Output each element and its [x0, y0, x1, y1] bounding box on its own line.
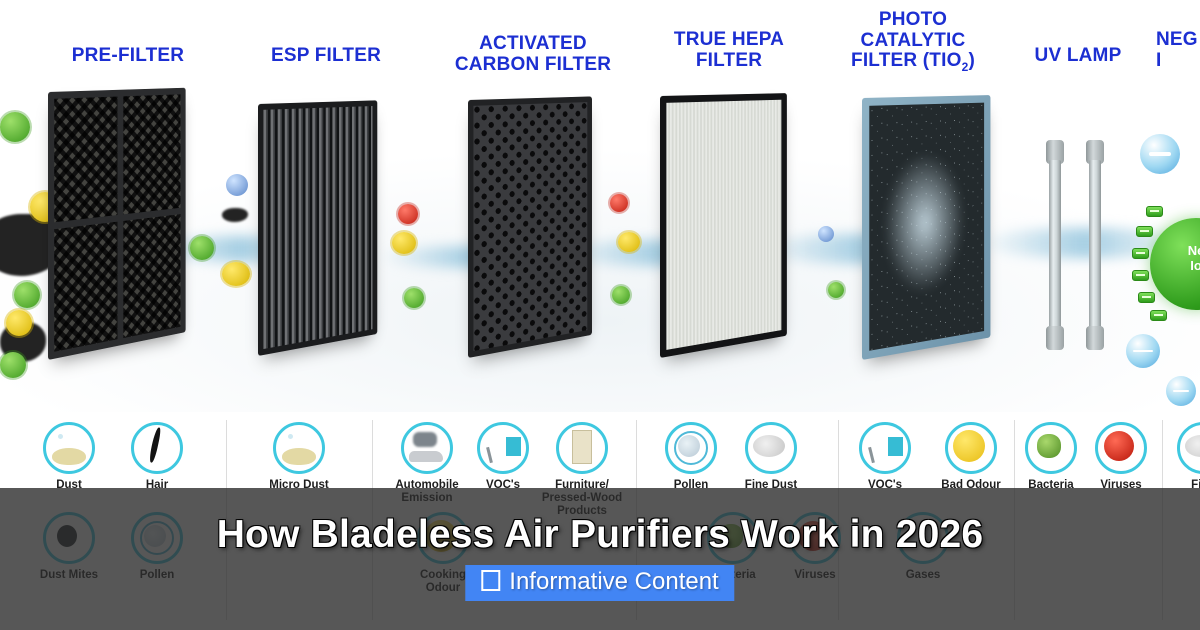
- status-badge-label: Informative Content: [509, 568, 718, 595]
- stage-label-uv-lamp: UV LAMP: [1010, 46, 1146, 67]
- particle-germ: [828, 282, 844, 298]
- particle-germ: [0, 352, 26, 378]
- panel-divider: [118, 96, 124, 339]
- label-line-2: I: [1156, 51, 1200, 72]
- uv-lamp-tube: [1046, 140, 1064, 350]
- lamp-glass: [1049, 160, 1061, 330]
- dust-icon: [43, 422, 95, 474]
- stage-label-negative-ion: NEG I: [1156, 30, 1200, 71]
- particle-pollen: [222, 262, 250, 286]
- stage-label-esp-filter: ESP FILTER: [228, 46, 424, 67]
- ion-pip: [1138, 292, 1155, 303]
- panel-frame: [258, 100, 377, 356]
- label-line-1: NEG: [1156, 30, 1200, 51]
- pollutant-item-viruses[interactable]: Viruses: [1078, 422, 1164, 492]
- ion-ball-label: NeIo: [1150, 244, 1200, 274]
- panel-media: [473, 102, 587, 351]
- pollutant-item-fine-dust[interactable]: Fine Dust: [728, 422, 814, 492]
- label-line-1: ACTIVATED: [430, 34, 636, 55]
- viruses-icon: [1095, 422, 1147, 474]
- particle-germ: [190, 236, 214, 260]
- bacteria-icon: [1025, 422, 1077, 474]
- label-line-1: PHOTO: [816, 10, 1010, 31]
- particle-germ: [0, 112, 30, 142]
- lamp-cap-bottom: [1046, 326, 1064, 350]
- pollutant-item-hair[interactable]: Hair: [114, 422, 200, 492]
- activated-carbon-filter-panel: [468, 96, 592, 358]
- page-title: How Bladeless Air Purifiers Work in 2026: [0, 513, 1200, 557]
- negative-ion-sphere: [1140, 134, 1180, 174]
- particle-pollen: [6, 310, 32, 336]
- pollutant-item-bad-odour[interactable]: Bad Odour: [928, 422, 1014, 492]
- pollutant-item-fine[interactable]: Fine: [1160, 422, 1200, 492]
- missing-glyph-box-icon: [481, 570, 500, 591]
- pollutant-item-pollen-hepa[interactable]: Pollen: [648, 422, 734, 492]
- label-line-2: CARBON FILTER: [430, 55, 636, 76]
- vocs-icon: [477, 422, 529, 474]
- particle-germ: [404, 288, 424, 308]
- photo-catalytic-filter-panel: [862, 95, 990, 360]
- stage-label-pre-filter: PRE-FILTER: [22, 46, 234, 67]
- ion-pip: [1132, 270, 1149, 281]
- uv-lamp-tube: [1086, 140, 1104, 350]
- lamp-glass: [1089, 160, 1101, 330]
- fine-dust-icon: [1177, 422, 1200, 474]
- particle-germ: [612, 286, 630, 304]
- fine-dust-icon: [745, 422, 797, 474]
- micro-dust-icon: [273, 422, 325, 474]
- particle-mite: [222, 208, 248, 222]
- pre-filter-panel: [48, 88, 186, 360]
- particle-virus: [398, 204, 418, 224]
- label-line-3-end: ): [968, 50, 975, 71]
- pollutant-item-vocs-pco[interactable]: VOC's: [842, 422, 928, 492]
- pollutant-item-dust[interactable]: Dust: [26, 422, 112, 492]
- esp-filter-panel: [258, 100, 377, 356]
- stage-label-photo-catalytic: PHOTO CATALYTIC FILTER (TIO2): [816, 10, 1010, 74]
- ion-pip: [1146, 206, 1163, 217]
- negative-ion-sphere: [1166, 376, 1196, 406]
- label-line-2: FILTER: [644, 51, 814, 72]
- particle-microbe: [818, 226, 834, 242]
- true-hepa-filter-panel: [660, 93, 787, 358]
- particle-pollen: [392, 232, 416, 254]
- label-line-3: FILTER (TIO2): [816, 51, 1010, 74]
- pollutant-item-micro-dust[interactable]: Micro Dust: [256, 422, 342, 492]
- furniture-icon: [556, 422, 608, 474]
- hair-icon: [131, 422, 183, 474]
- pollen-icon: [665, 422, 717, 474]
- panel-media: [666, 100, 781, 350]
- particle-germ: [14, 282, 40, 308]
- panel-media: [263, 106, 372, 349]
- label-line-1: TRUE HEPA: [644, 30, 814, 51]
- status-badge[interactable]: Informative Content: [465, 565, 734, 601]
- ion-pip: [1136, 226, 1153, 237]
- label-line-2: CATALYTIC: [816, 31, 1010, 52]
- stage-label-activated-carbon: ACTIVATED CARBON FILTER: [430, 34, 636, 75]
- panel-frame: [468, 96, 592, 358]
- panel-frame: [660, 93, 787, 358]
- screenshot-root: PRE-FILTER ESP FILTER ACTIVATED CARBON F…: [0, 0, 1200, 630]
- label-line-3-text: FILTER (TIO: [851, 50, 962, 71]
- particle-microbe: [226, 174, 248, 196]
- negative-ion-sphere: [1126, 334, 1160, 368]
- bad-odour-icon: [945, 422, 997, 474]
- particle-pollen: [618, 232, 640, 252]
- particle-virus: [610, 194, 628, 212]
- ion-pip: [1150, 310, 1167, 321]
- automobile-emission-icon: [401, 422, 453, 474]
- air-purifier-diagram: PRE-FILTER ESP FILTER ACTIVATED CARBON F…: [0, 0, 1200, 412]
- lamp-cap-bottom: [1086, 326, 1104, 350]
- vocs-icon: [859, 422, 911, 474]
- title-overlay-scrim: [0, 488, 1200, 630]
- ion-pip: [1132, 248, 1149, 259]
- stage-label-true-hepa: TRUE HEPA FILTER: [644, 30, 814, 71]
